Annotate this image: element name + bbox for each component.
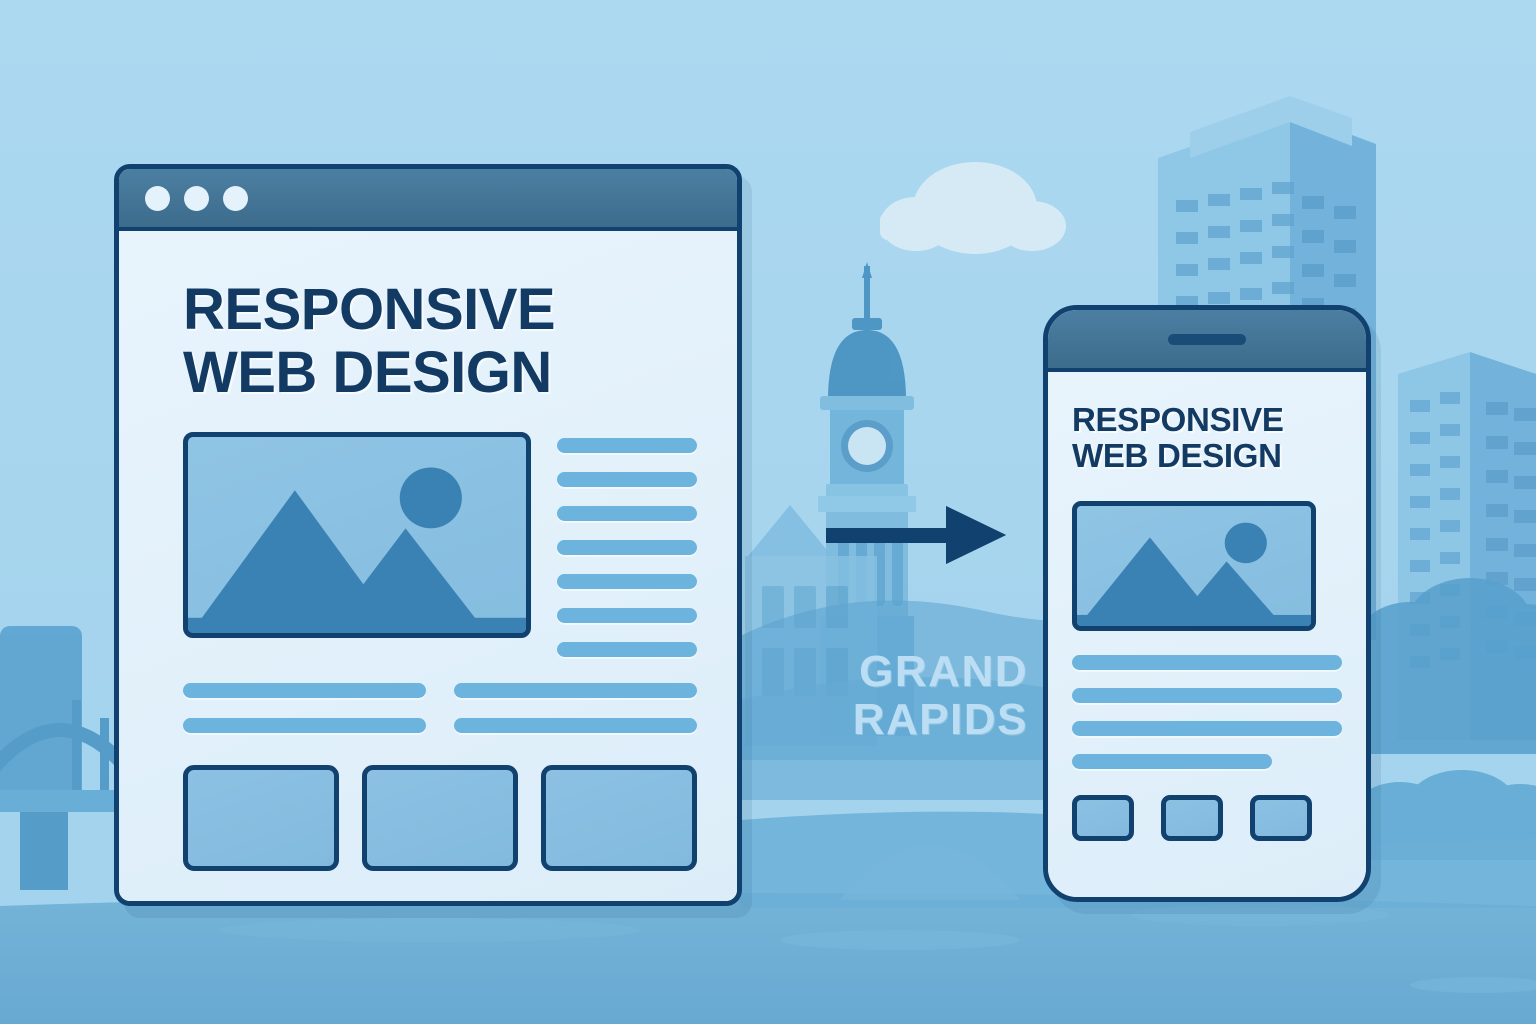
desktop-card-row (183, 765, 697, 871)
mobile-phone-mockup: RESPONSIVE WEB DESIGN (1043, 305, 1371, 902)
desktop-page-title: RESPONSIVE WEB DESIGN (183, 279, 697, 404)
phone-viewport: RESPONSIVE WEB DESIGN (1048, 372, 1366, 898)
mobile-title-line1: RESPONSIVE (1072, 402, 1342, 438)
mobile-card-row (1072, 795, 1342, 841)
window-close-dot[interactable] (145, 186, 170, 211)
text-bar (557, 642, 697, 657)
text-bar (557, 540, 697, 555)
window-maximize-dot[interactable] (223, 186, 248, 211)
city-label-line1: GRAND (740, 648, 1028, 696)
shadow-desktop (220, 918, 640, 942)
browser-title-bar (119, 169, 737, 231)
desktop-card[interactable] (362, 765, 518, 871)
text-bar (454, 718, 697, 733)
phone-top-bezel (1048, 310, 1366, 372)
text-bar (183, 718, 426, 733)
mountain-photo-icon (1077, 506, 1311, 626)
illustration-canvas: GRAND RAPIDS RESPONSIVE WEB DESIGN (0, 0, 1536, 1024)
paragraph-column-right (454, 683, 697, 733)
text-bar (454, 683, 697, 698)
mobile-text-block (1072, 655, 1342, 769)
text-bar (1072, 754, 1272, 769)
text-bar (557, 506, 697, 521)
shadow-phone (1130, 904, 1390, 926)
desktop-paragraph-block (183, 683, 697, 733)
browser-viewport: RESPONSIVE WEB DESIGN (119, 231, 737, 906)
desktop-title-line2: WEB DESIGN (183, 342, 697, 405)
text-bar (557, 438, 697, 453)
desktop-hero-row (183, 432, 697, 657)
desktop-browser-mockup: RESPONSIVE WEB DESIGN (114, 164, 742, 906)
text-bar (557, 608, 697, 623)
desktop-card[interactable] (183, 765, 339, 871)
desktop-sidebar-text-bars (557, 432, 697, 657)
text-bar (1072, 688, 1342, 703)
transition-arrow-icon (826, 500, 1016, 570)
mobile-page-title: RESPONSIVE WEB DESIGN (1072, 402, 1342, 475)
earpiece-speaker-icon (1168, 334, 1246, 345)
mobile-title-line2: WEB DESIGN (1072, 438, 1342, 474)
mountain-photo-icon (188, 437, 526, 633)
text-bar (1072, 655, 1342, 670)
desktop-title-line1: RESPONSIVE (183, 279, 697, 342)
mobile-card[interactable] (1072, 795, 1134, 841)
text-bar (557, 574, 697, 589)
window-minimize-dot[interactable] (184, 186, 209, 211)
text-bar (183, 683, 426, 698)
mobile-card[interactable] (1250, 795, 1312, 841)
paragraph-column-left (183, 683, 426, 733)
text-bar (557, 472, 697, 487)
mobile-card[interactable] (1161, 795, 1223, 841)
mobile-image-placeholder[interactable] (1072, 501, 1316, 631)
city-label-line2: RAPIDS (740, 696, 1028, 744)
background-city-label: GRAND RAPIDS (740, 648, 1028, 743)
desktop-image-placeholder[interactable] (183, 432, 531, 638)
text-bar (1072, 721, 1342, 736)
water-ripple (780, 930, 1020, 950)
desktop-card[interactable] (541, 765, 697, 871)
